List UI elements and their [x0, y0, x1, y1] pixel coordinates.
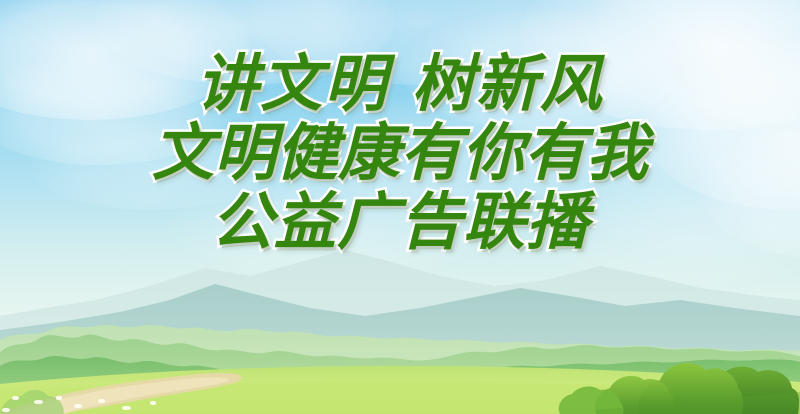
headline-line-2: 文明健康有你有我 [0, 121, 800, 184]
headline-block: 讲文明 树新风 文明健康有你有我 公益广告联播 [0, 52, 800, 254]
white-wildflower [150, 401, 156, 405]
white-wildflower [122, 406, 131, 410]
white-wildflower [34, 400, 43, 404]
white-wildflower [2, 408, 10, 412]
public-service-ad-banner: 讲文明 树新风 文明健康有你有我 公益广告联播 [0, 0, 800, 414]
headline-line-3: 公益广告联播 [0, 190, 800, 253]
headline-line-1: 讲文明 树新风 [0, 52, 800, 115]
white-wildflower [12, 396, 19, 400]
white-wildflower [98, 399, 105, 403]
white-wildflower [56, 396, 62, 400]
white-wildflower [74, 404, 82, 408]
